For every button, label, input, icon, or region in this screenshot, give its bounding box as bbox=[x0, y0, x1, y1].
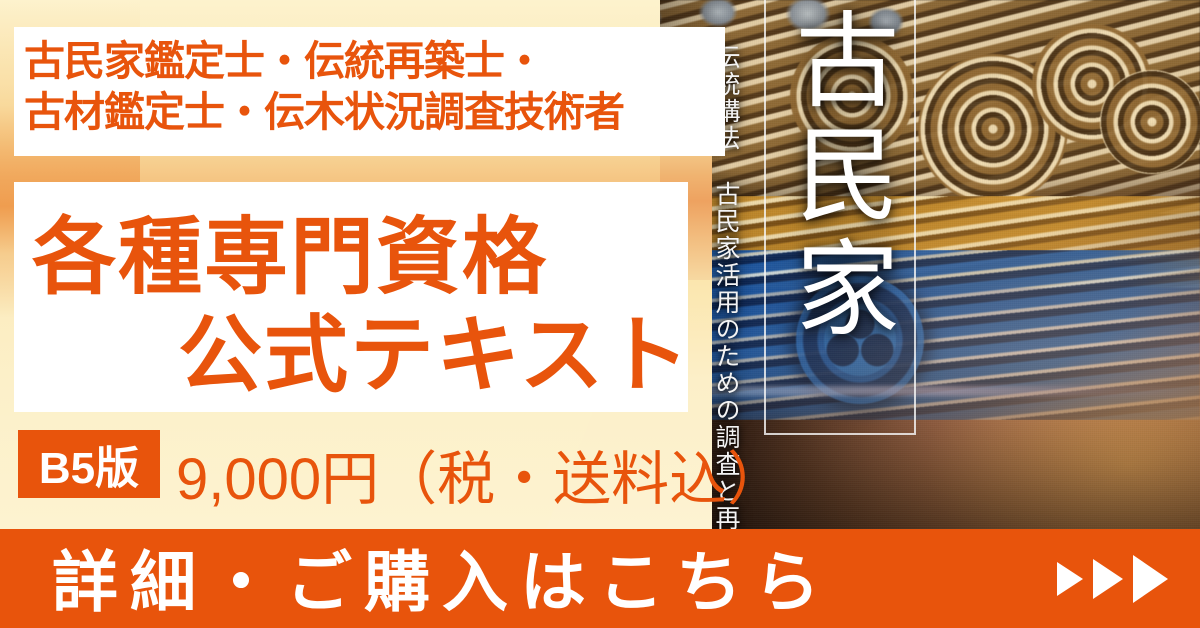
triangle-right-icon bbox=[1133, 555, 1168, 603]
certifications-line-2: 古材鑑定士・伝木状況調査技術者 bbox=[24, 78, 624, 138]
format-badge: B5版 bbox=[18, 430, 160, 498]
cta-label: 詳細・ご購入はこちら bbox=[52, 529, 832, 625]
cta-button-bar[interactable]: 詳細・ご購入はこちら bbox=[0, 529, 1200, 628]
triangle-right-icon bbox=[1093, 559, 1123, 599]
price-label: 9,000円（税・送料込） bbox=[176, 432, 785, 516]
triangle-right-icon bbox=[1057, 562, 1083, 596]
headline-line-2: 公式テキスト bbox=[178, 288, 691, 409]
cta-arrow-group bbox=[1057, 555, 1168, 603]
promo-banner: 古民家 伝統構法 古民家活用のための調査と再生の 古民家鑑定士・伝統再築士・ 古… bbox=[0, 0, 1200, 628]
cover-title-vertical: 古民家 bbox=[776, 6, 904, 348]
